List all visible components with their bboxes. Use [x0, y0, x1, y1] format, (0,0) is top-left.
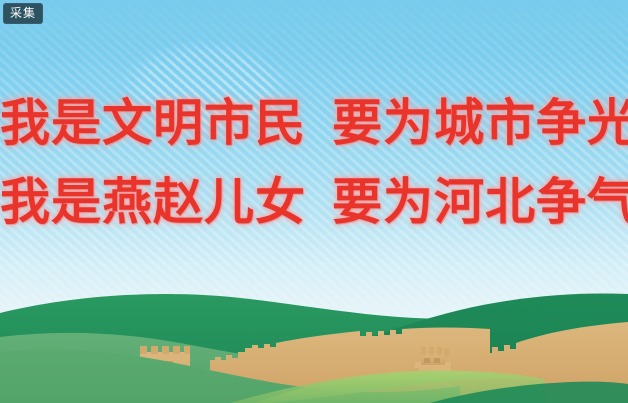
slogan-line-2-left: 我是燕赵儿女: [0, 173, 306, 231]
poster-canvas: 我是文明市民要为城市争光 我是燕赵儿女要为河北争气 采集: [0, 0, 628, 403]
slogan-line-1-left: 我是文明市民: [0, 94, 306, 152]
collect-button[interactable]: 采集: [3, 3, 43, 24]
slogan-line-2: 我是燕赵儿女要为河北争气: [0, 177, 628, 227]
slogan-line-1: 我是文明市民要为城市争光: [0, 98, 628, 148]
slogan-line-2-right: 要为河北争气: [332, 173, 628, 231]
slogan-line-1-right: 要为城市争光: [332, 94, 628, 152]
